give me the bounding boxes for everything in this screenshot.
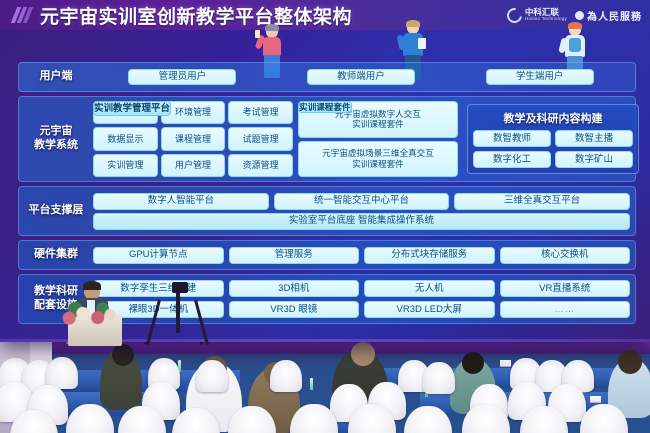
layer-metaverse-teaching-system: 元宇宙 教学系统 实训教学管理平台 系统管理 环境管理 考试管理 数据显示 课程… xyxy=(18,96,636,182)
chip-lab-platform-base-os[interactable]: 实验室平台底座 智能集成操作系统 xyxy=(93,213,630,230)
avatar-body xyxy=(263,37,281,56)
chip-training-management[interactable]: 实训管理 xyxy=(93,154,158,177)
swirl-icon xyxy=(504,5,525,26)
group-title-management-platform: 实训教学管理平台 xyxy=(93,101,171,116)
calligraphy-text: 為人民服務 xyxy=(587,8,642,23)
chip-core-switch[interactable]: 核心交换机 xyxy=(500,247,631,264)
layer-label-metaverse-teaching-system: 元宇宙 教学系统 xyxy=(19,97,93,181)
audience-head xyxy=(112,344,134,366)
layer-teaching-research-facilities: 教学科研 配套设施 数字孪生三维重建 3D相机 无人机 VR直播系统 裸眼3D一… xyxy=(18,274,636,324)
layer-label-line2: 教学系统 xyxy=(34,139,78,151)
huilian-technology-logo: 中科汇联 Huilian Technology xyxy=(507,8,567,23)
layer-label-hardware-cluster: 硬件集群 xyxy=(19,248,93,262)
chip-resource-management[interactable]: 资源管理 xyxy=(228,154,293,177)
led-presentation-screen: 元宇宙实训室创新教学平台整体架构 中科汇联 Huilian Technology… xyxy=(0,0,650,342)
chip-management-service[interactable]: 管理服务 xyxy=(229,247,360,264)
chip-digital-mine[interactable]: 数字矿山 xyxy=(555,151,633,168)
chip-teacher-user[interactable]: 教师端用户 xyxy=(307,69,415,85)
avatar-clipboard-icon xyxy=(418,38,426,49)
facilities-grid: 数字孪生三维重建 3D相机 无人机 VR直播系统 裸眼3D一体机 VR3D 眼镜… xyxy=(93,280,630,318)
chip-glasses-free-3d-machine[interactable]: 裸眼3D一体机 xyxy=(93,301,224,318)
panel-title-content-construction: 教学及科研内容构建 xyxy=(473,110,633,126)
chair xyxy=(196,360,228,392)
layer-label-user-side: 用户端 xyxy=(19,70,93,84)
audience-area xyxy=(0,330,650,433)
chip-line2: 实训课程套件 xyxy=(352,159,404,169)
chip-distributed-block-storage[interactable]: 分布式块存储服务 xyxy=(364,247,495,264)
chip-line2: 实训课程套件 xyxy=(352,119,404,129)
chip-3d-camera[interactable]: 3D相机 xyxy=(229,280,360,297)
page-title: 元宇宙实训室创新教学平台整体架构 xyxy=(40,2,352,29)
content-construction-grid: 数智教师 数智主播 数字化工 数字矿山 xyxy=(473,130,633,168)
chip-vr-live-system[interactable]: VR直播系统 xyxy=(500,280,631,297)
chip-exam-management[interactable]: 考试管理 xyxy=(228,101,293,124)
layer-label-line1: 元宇宙 xyxy=(40,125,73,137)
chip-unified-interaction-center[interactable]: 统一智能交互中心平台 xyxy=(274,193,450,210)
chip-digital-teacher[interactable]: 数智教师 xyxy=(473,130,551,147)
chevron-decoration-icon xyxy=(11,7,33,23)
chip-digital-twin-3d-reconstruction[interactable]: 数字孪生三维重建 xyxy=(93,280,224,297)
water-bottle xyxy=(310,378,313,390)
chip-user-management[interactable]: 用户管理 xyxy=(161,154,226,177)
layer-hardware-cluster: 硬件集群 GPU计算节点 管理服务 分布式块存储服务 核心交换机 xyxy=(18,240,636,270)
chair xyxy=(423,362,455,394)
group-title-course-suite: 实训课程套件 xyxy=(298,101,352,113)
chip-virtual-scene-course-suite[interactable]: 元宇宙虚拟场景三维全真交互 实训课程套件 xyxy=(298,141,458,178)
group-management-platform: 实训教学管理平台 系统管理 环境管理 考试管理 数据显示 课程管理 试题管理 实… xyxy=(93,101,293,177)
chip-3d-interaction-platform[interactable]: 三维全真交互平台 xyxy=(454,193,630,210)
chip-digital-anchor[interactable]: 数智主播 xyxy=(555,130,633,147)
chip-more-ellipsis[interactable]: …… xyxy=(500,301,631,318)
architecture-diagram: 用户端 管理员用户 教师端用户 学生端用户 元宇宙 教学系统 xyxy=(18,62,636,328)
chip-vr3d-glasses[interactable]: VR3D 眼镜 xyxy=(229,301,360,318)
layer-label-line2: 配套设施 xyxy=(34,299,78,311)
name-placard xyxy=(590,396,601,403)
avatar-phone-icon xyxy=(255,30,260,38)
calligraphy-logo: 為人民服務 xyxy=(575,8,642,23)
screenshot-stage: 元宇宙实训室创新教学平台整体架构 中科汇联 Huilian Technology… xyxy=(0,0,650,433)
chip-data-display[interactable]: 数据显示 xyxy=(93,127,158,150)
chip-course-management[interactable]: 课程管理 xyxy=(161,127,226,150)
layer-platform-support: 平台支撑层 数字人智能平台 统一智能交互中心平台 三维全真交互平台 实验室平台底… xyxy=(18,186,636,236)
layer-label-teaching-research-facilities: 教学科研 配套设施 xyxy=(19,285,93,313)
chip-question-management[interactable]: 试题管理 xyxy=(228,127,293,150)
chip-digital-chemical[interactable]: 数字化工 xyxy=(473,151,551,168)
chip-admin-user[interactable]: 管理员用户 xyxy=(128,69,236,85)
chair xyxy=(270,360,302,392)
slide-title-bar: 元宇宙实训室创新教学平台整体架构 中科汇联 Huilian Technology… xyxy=(0,0,650,30)
chip-student-user[interactable]: 学生端用户 xyxy=(486,69,594,85)
audience-head xyxy=(462,352,484,374)
avatar-backpack-icon xyxy=(569,38,581,52)
platform-support-bottom-row: 实验室平台底座 智能集成操作系统 xyxy=(93,213,630,230)
chip-drone[interactable]: 无人机 xyxy=(364,280,495,297)
chip-vr3d-led-screen[interactable]: VR3D LED大屏 xyxy=(364,301,495,318)
panel-content-construction: 教学及科研内容构建 数智教师 数智主播 数字化工 数字矿山 xyxy=(467,104,639,174)
logo-group: 中科汇联 Huilian Technology 為人民服務 xyxy=(507,8,642,23)
layer-label-line1: 教学科研 xyxy=(34,285,78,297)
chip-line1: 元宇宙虚拟场景三维全真交互 xyxy=(322,148,434,158)
platform-support-top-row: 数字人智能平台 统一智能交互中心平台 三维全真交互平台 xyxy=(93,193,630,210)
layer-label-platform-support: 平台支撑层 xyxy=(19,204,93,218)
name-placard xyxy=(500,360,511,367)
audience-head xyxy=(618,350,642,374)
audience-head xyxy=(351,342,375,366)
chip-gpu-compute-node[interactable]: GPU计算节点 xyxy=(93,247,224,264)
dot-icon xyxy=(575,11,584,20)
layer-user-side: 用户端 管理员用户 教师端用户 学生端用户 xyxy=(18,62,636,92)
group-course-suite: 实训课程套件 元宇宙虚拟数字人交互 实训课程套件 元宇宙虚拟场景三维全真交互 实… xyxy=(298,101,458,177)
chip-digital-human-platform[interactable]: 数字人智能平台 xyxy=(93,193,269,210)
logo-en-text: Huilian Technology xyxy=(525,17,567,22)
